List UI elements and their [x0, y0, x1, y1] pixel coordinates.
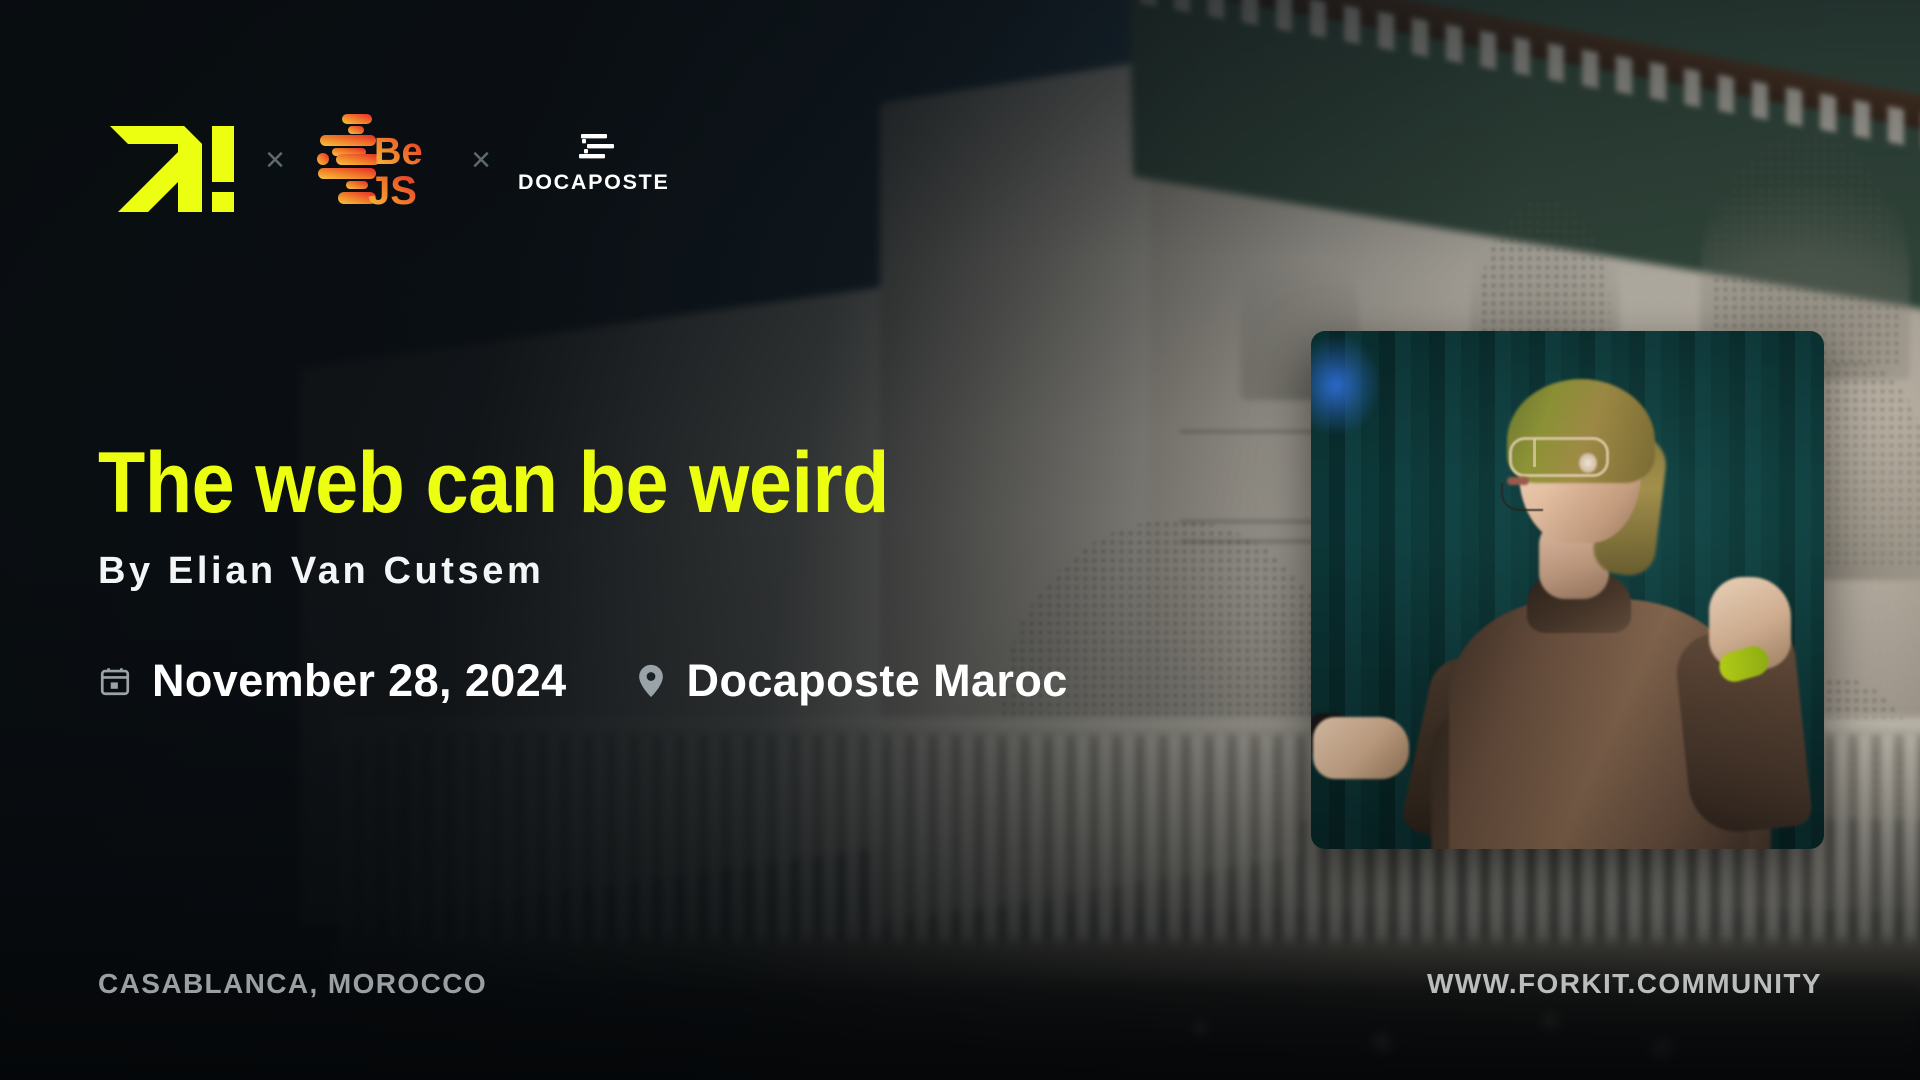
talk-speaker: By Elian Van Cutsem: [98, 552, 1068, 590]
speaker-photo: [1311, 331, 1824, 849]
photo-vignette: [1311, 331, 1824, 849]
map-pin-icon: [635, 663, 667, 699]
docaposte-bars-icon: [574, 133, 614, 163]
talk-title: The web can be weird: [98, 440, 971, 526]
separator-icon: ×: [238, 143, 312, 177]
talk-date-label: November 28, 2024: [152, 658, 567, 703]
event-slide: × Be JS: [0, 0, 1920, 1080]
footer-website[interactable]: WWW.FORKIT.COMMUNITY: [1427, 970, 1822, 998]
talk-venue: Docaposte Maroc: [635, 658, 1068, 703]
partner-logo-bar: × Be JS: [98, 108, 669, 212]
svg-text:JS: JS: [368, 169, 417, 208]
footer-location: CASABLANCA, MOROCCO: [98, 970, 487, 998]
calendar-icon: [98, 664, 132, 698]
bejs-logo[interactable]: Be JS: [312, 112, 444, 208]
forkit-logo[interactable]: [98, 108, 238, 212]
talk-date: November 28, 2024: [98, 658, 567, 703]
talk-venue-label: Docaposte Maroc: [687, 658, 1068, 703]
docaposte-logo[interactable]: DOCAPOSTE: [518, 127, 669, 194]
talk-info: The web can be weird By Elian Van Cutsem…: [98, 440, 1068, 703]
separator-icon: ×: [444, 143, 518, 177]
docaposte-wordmark: DOCAPOSTE: [518, 172, 669, 194]
svg-text:Be: Be: [374, 131, 423, 173]
talk-meta: November 28, 2024 Docaposte Maroc: [98, 658, 1068, 703]
